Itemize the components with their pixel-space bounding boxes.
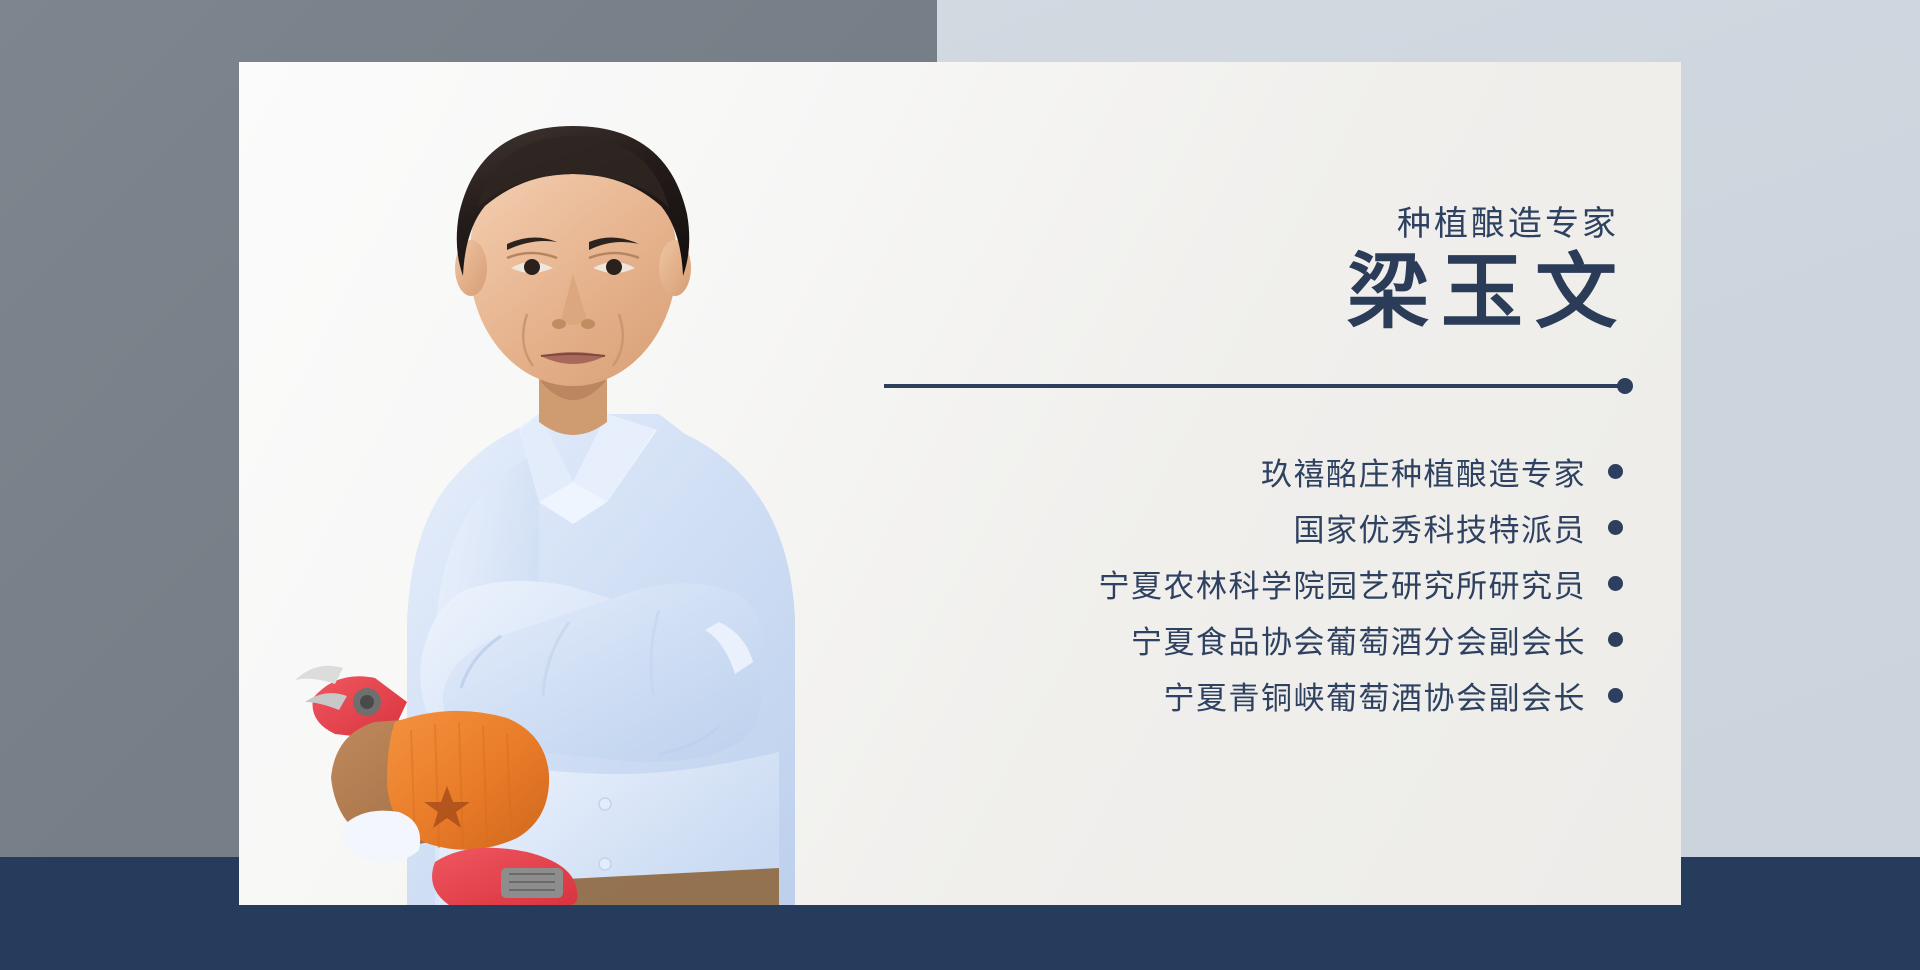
- list-item: 玖禧酩庄种植酿造专家: [903, 444, 1623, 498]
- divider-end-dot: [1617, 378, 1633, 394]
- expert-info-column: 种植酿造专家 梁玉文 玖禧酩庄种植酿造专家 国家优秀科技特派员 宁夏农林科学院园…: [899, 62, 1681, 905]
- expert-name: 梁玉文: [1347, 250, 1629, 336]
- list-item: 宁夏食品协会葡萄酒分会副会长: [903, 612, 1623, 666]
- profile-card-page: 种植酿造专家 梁玉文 玖禧酩庄种植酿造专家 国家优秀科技特派员 宁夏农林科学院园…: [0, 0, 1920, 970]
- credential-text: 玖禧酩庄种植酿造专家: [1261, 449, 1586, 494]
- bullet-dot-icon: [1608, 576, 1623, 591]
- credential-text: 宁夏青铜峡葡萄酒协会副会长: [1164, 673, 1587, 718]
- credential-text: 国家优秀科技特派员: [1294, 505, 1587, 550]
- list-item: 宁夏青铜峡葡萄酒协会副会长: [903, 668, 1623, 722]
- bullet-dot-icon: [1608, 688, 1623, 703]
- expert-portrait-photo: [239, 62, 839, 905]
- credential-text: 宁夏农林科学院园艺研究所研究员: [1099, 561, 1587, 606]
- bullet-dot-icon: [1608, 520, 1623, 535]
- divider-line: [884, 384, 1626, 388]
- bullet-dot-icon: [1608, 632, 1623, 647]
- credential-text: 宁夏食品协会葡萄酒分会副会长: [1131, 617, 1586, 662]
- list-item: 国家优秀科技特派员: [903, 500, 1623, 554]
- list-item: 宁夏农林科学院园艺研究所研究员: [903, 556, 1623, 610]
- expert-subtitle: 种植酿造专家: [1397, 196, 1619, 245]
- credentials-list: 玖禧酩庄种植酿造专家 国家优秀科技特派员 宁夏农林科学院园艺研究所研究员 宁夏食…: [903, 444, 1623, 724]
- bullet-dot-icon: [1608, 464, 1623, 479]
- profile-card: 种植酿造专家 梁玉文 玖禧酩庄种植酿造专家 国家优秀科技特派员 宁夏农林科学院园…: [239, 62, 1681, 905]
